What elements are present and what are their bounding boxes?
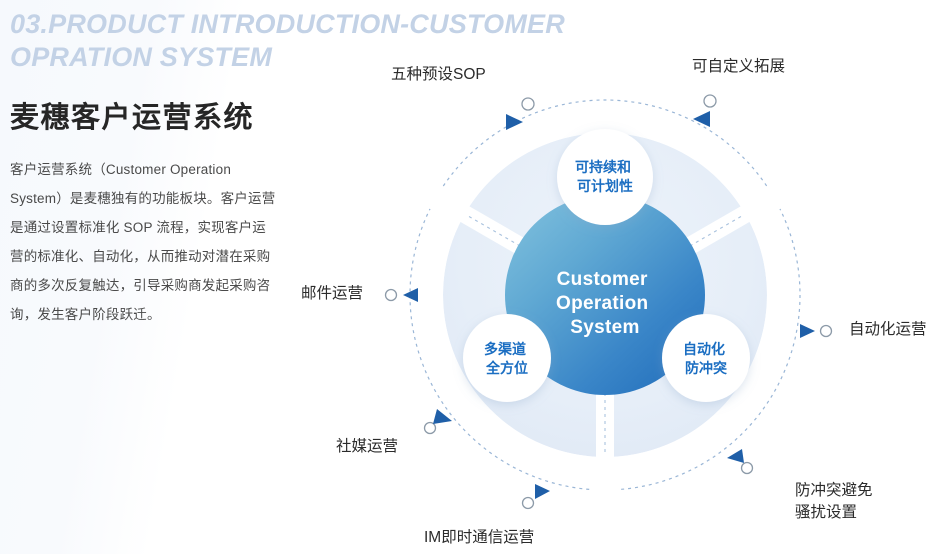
core-label: Customer Operation System — [556, 269, 654, 338]
marker-im-ops[interactable] — [523, 484, 551, 509]
label-social-ops: 社媒运营 — [336, 436, 398, 458]
marker-social-ops[interactable] — [425, 409, 453, 434]
node-multichannel-line-2: 全方位 — [485, 360, 528, 376]
label-preset-sop: 五种预设SOP — [391, 64, 486, 86]
node-anti-conflict-line-2: 防冲突 — [685, 360, 727, 376]
label-im-ops: IM即时通信运营 — [424, 527, 534, 549]
label-anti-disturb: 防冲突避免 骚扰设置 — [795, 480, 873, 524]
page-title: 麦穗客户运营系统 — [10, 94, 254, 136]
core-label-line-3: System — [570, 317, 639, 338]
section-eyebrow: 03.PRODUCT INTRODUCTION-CUSTOMER OPRATIO… — [10, 8, 650, 74]
core-label-line-1: Customer — [557, 269, 648, 290]
marker-automation-ops[interactable] — [800, 324, 832, 338]
intro-paragraph: 客户运营系统（Customer Operation System）是麦穗独有的功… — [10, 155, 278, 329]
node-anti-conflict-line-1: 自动化 — [683, 341, 725, 357]
label-email-ops: 邮件运营 — [301, 283, 363, 305]
marker-email-ops[interactable] — [386, 288, 419, 302]
marker-customizable[interactable] — [693, 95, 716, 127]
marker-preset-sop[interactable] — [506, 98, 534, 130]
label-customizable: 可自定义拓展 — [692, 56, 785, 78]
label-automation-ops: 自动化运营 — [849, 319, 927, 341]
core-label-line-2: Operation — [556, 293, 648, 314]
marker-anti-disturb[interactable] — [727, 449, 753, 474]
node-multichannel-line-1: 多渠道 — [484, 341, 526, 357]
node-multichannel[interactable]: 多渠道 全方位 — [463, 314, 551, 402]
node-sustainable-line-2: 可计划性 — [577, 178, 633, 194]
node-anti-conflict[interactable]: 自动化 防冲突 — [662, 314, 750, 402]
left-text-pane: 03.PRODUCT INTRODUCTION-CUSTOMER OPRATIO… — [0, 0, 360, 554]
node-sustainable[interactable]: 可持续和 可计划性 — [557, 129, 653, 225]
node-sustainable-line-1: 可持续和 — [575, 159, 631, 175]
